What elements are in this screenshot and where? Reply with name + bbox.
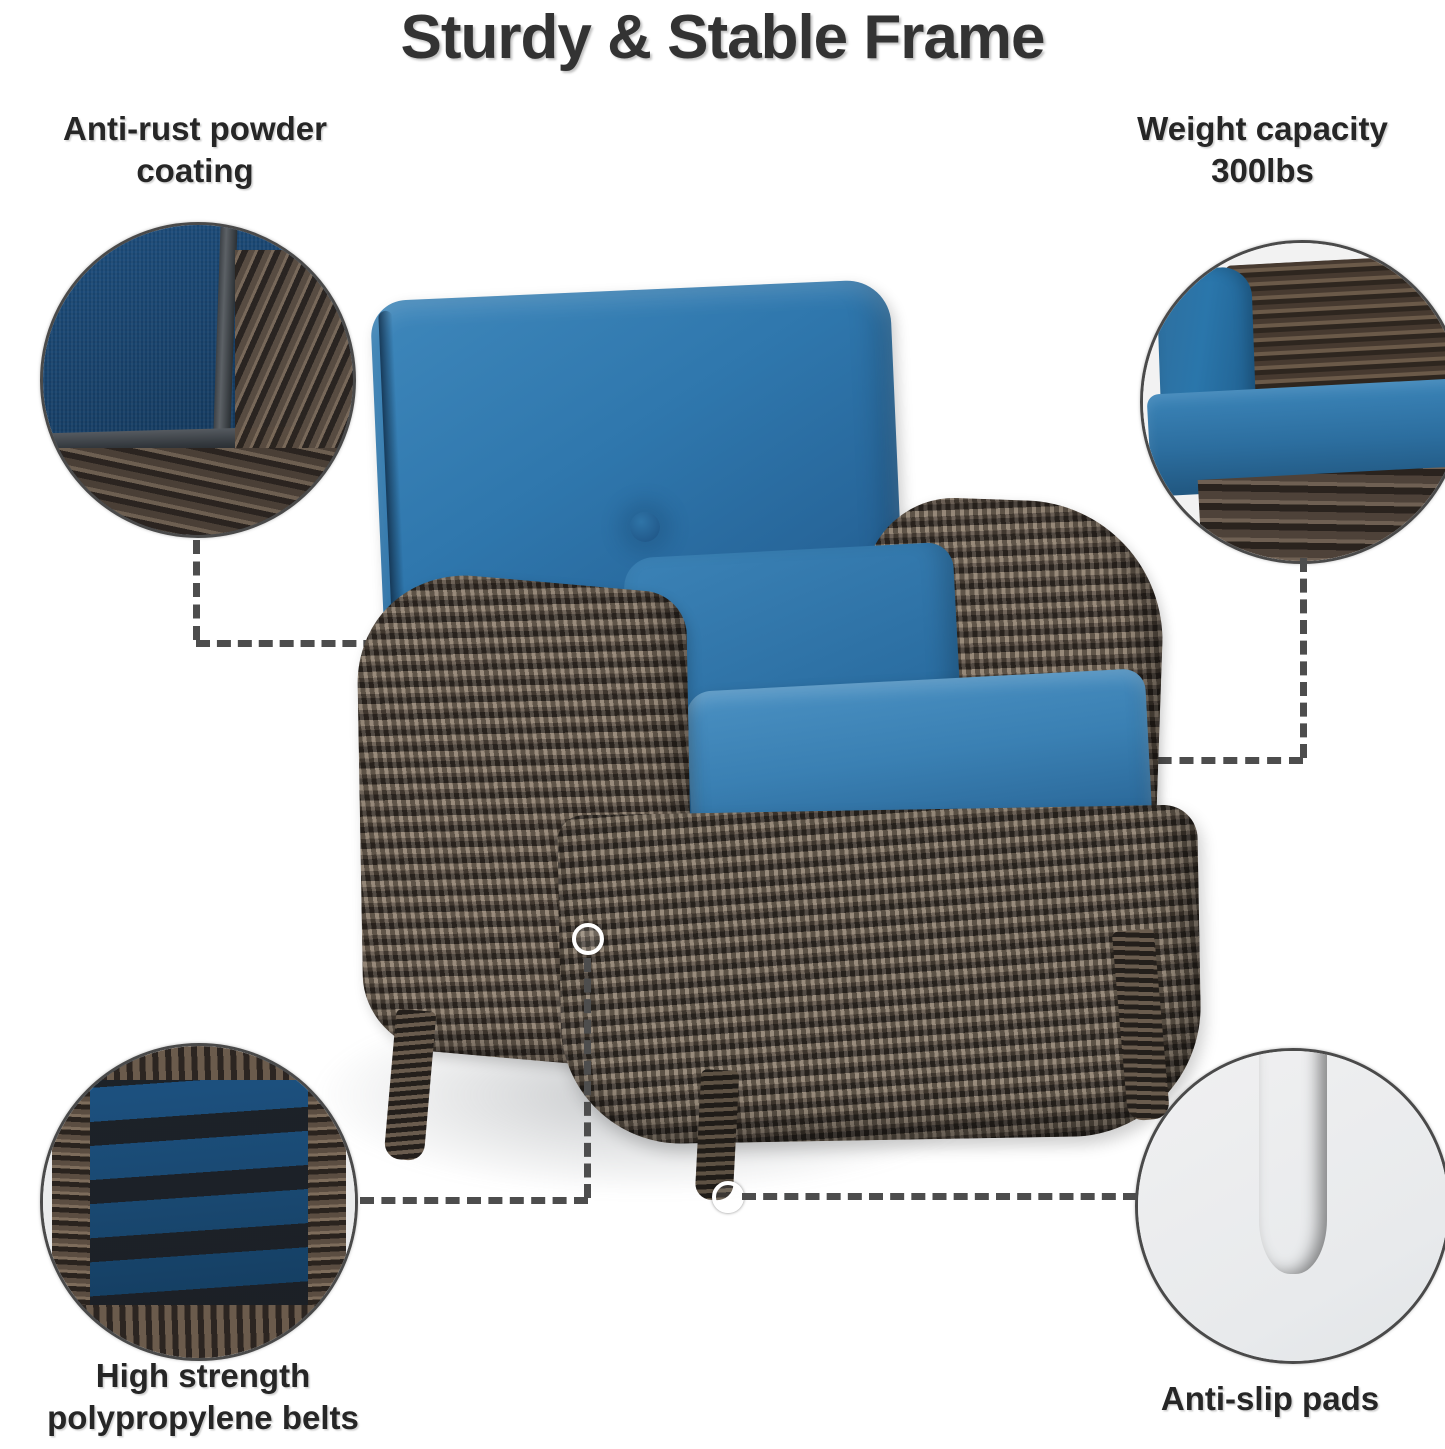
callout-label-bottom-left-line1: High strength [8,1355,398,1397]
callout-label-top-left: Anti-rust powder coating [10,108,380,192]
connector-bottom-left-vertical [584,958,591,1198]
callout-label-top-right-line2: 300lbs [1080,150,1445,192]
callout-label-top-left-line1: Anti-rust powder [10,108,380,150]
callout-label-bottom-right-line1: Anti-slip pads [1105,1378,1435,1420]
belts-detail-right-wicker [308,1083,345,1308]
callout-label-bottom-left-line2: polypropylene belts [8,1397,398,1439]
callout-circle-bottom-right [1135,1048,1445,1364]
capacity-detail-base-wicker [1198,464,1445,564]
chair-base-body [557,804,1203,1145]
belts-detail-bottom-wicker [62,1305,337,1358]
belts-detail-left-wicker [52,1083,89,1308]
belts-detail-straps [74,1065,324,1327]
belts-detail-top-wicker [68,1046,330,1080]
frame-detail-bottom-wicker [40,448,356,538]
callout-label-bottom-right: Anti-slip pads [1105,1378,1435,1420]
callout-circle-bottom-left [40,1043,358,1361]
page-title: Sturdy & Stable Frame [0,2,1445,73]
callout-label-bottom-left: High strength polypropylene belts [8,1355,398,1439]
connector-top-right-vertical [1300,558,1307,758]
marker-bottom-right [712,1181,744,1213]
infographic-canvas: Sturdy & Stable Frame Anti-rust powder c… [0,0,1445,1449]
callout-circle-top-left [40,222,356,538]
callout-label-top-right-line1: Weight capacity [1080,108,1445,150]
pad-detail-leg [1259,1048,1327,1274]
callout-label-top-left-line2: coating [10,150,380,192]
connector-bottom-left-horizontal [360,1197,588,1204]
marker-bottom-left [572,923,604,955]
connector-bottom-right-horizontal [742,1193,1137,1200]
connector-top-left-vertical [193,540,200,640]
callout-label-top-right: Weight capacity 300lbs [1080,108,1445,192]
product-chair [330,250,1210,1210]
